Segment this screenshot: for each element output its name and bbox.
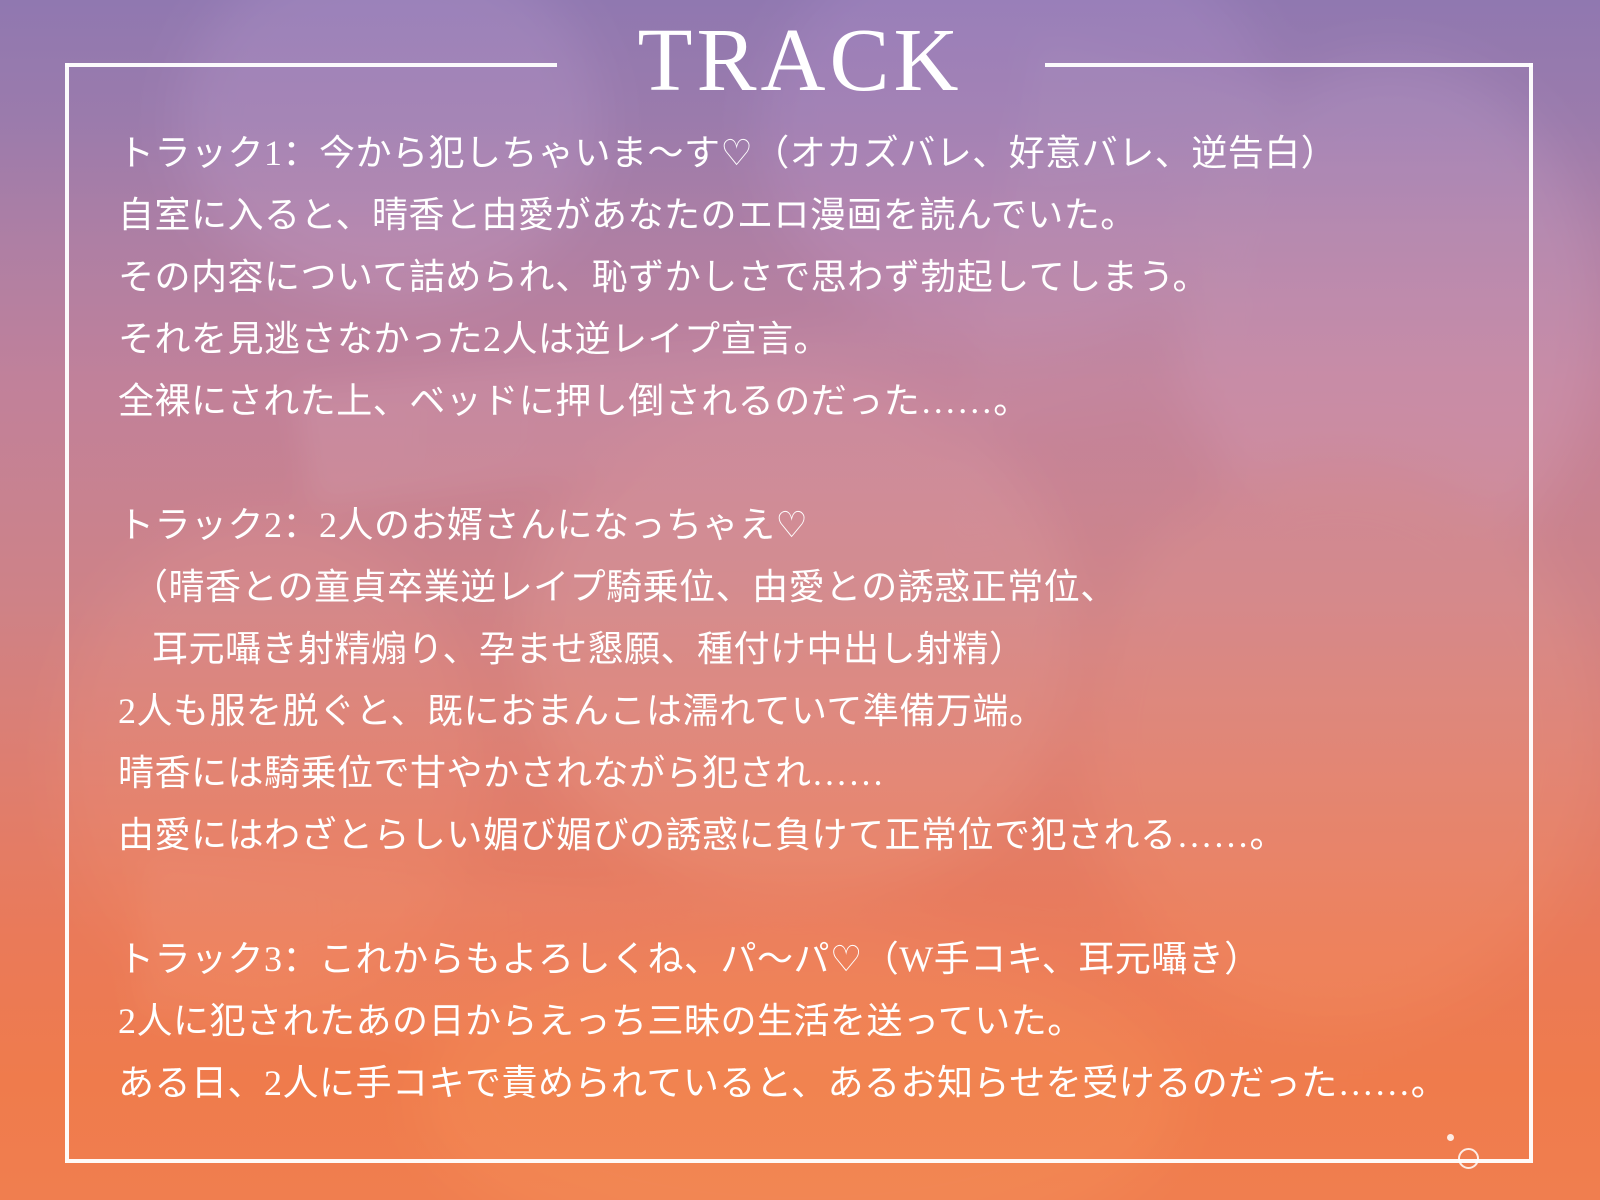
track-listing-page: TRACK トラック1：今から犯しちゃいま〜す♡（オカズバレ、好意バレ、逆告白）… — [0, 0, 1600, 1200]
track-1-spacer — [118, 432, 1518, 494]
track-list: トラック1：今から犯しちゃいま〜す♡（オカズバレ、好意バレ、逆告白） 自室に入る… — [118, 122, 1518, 1114]
track-2-spacer — [118, 866, 1518, 928]
track-2-line-3: 由愛にはわざとらしい媚び媚びの誘惑に負けて正常位で犯される……。 — [118, 804, 1518, 866]
track-3-heading: トラック3：これからもよろしくね、パ〜パ♡（W手コキ、耳元囁き） — [118, 928, 1518, 990]
decorative-dot — [1447, 1134, 1454, 1141]
track-2-line-2: 晴香には騎乗位で甘やかされながら犯され…… — [118, 742, 1518, 804]
track-1-line-2: その内容について詰められ、恥ずかしさで思わず勃起してしまう。 — [118, 246, 1518, 308]
track-3-line-1: 2人に犯されたあの日からえっち三昧の生活を送っていた。 — [118, 990, 1518, 1052]
track-1-line-3: それを見逃さなかった2人は逆レイプ宣言。 — [118, 308, 1518, 370]
page-title: TRACK — [0, 14, 1600, 109]
track-1-heading: トラック1：今から犯しちゃいま〜す♡（オカズバレ、好意バレ、逆告白） — [118, 122, 1518, 184]
track-1-line-4: 全裸にされた上、ベッドに押し倒されるのだった……。 — [118, 370, 1518, 432]
decorative-ring — [1458, 1148, 1479, 1169]
track-2-paren-line-2: 耳元囁き射精煽り、孕ませ懇願、種付け中出し射精） — [118, 618, 1518, 680]
track-3-line-2: ある日、2人に手コキで責められていると、あるお知らせを受けるのだった……。 — [118, 1052, 1518, 1114]
track-1-line-1: 自室に入ると、晴香と由愛があなたのエロ漫画を読んでいた。 — [118, 184, 1518, 246]
track-2-paren-line-1: （晴香との童貞卒業逆レイプ騎乗位、由愛との誘惑正常位、 — [118, 556, 1518, 618]
track-2-heading: トラック2：2人のお婿さんになっちゃえ♡ — [118, 494, 1518, 556]
track-2-line-1: 2人も服を脱ぐと、既におまんこは濡れていて準備万端。 — [118, 680, 1518, 742]
